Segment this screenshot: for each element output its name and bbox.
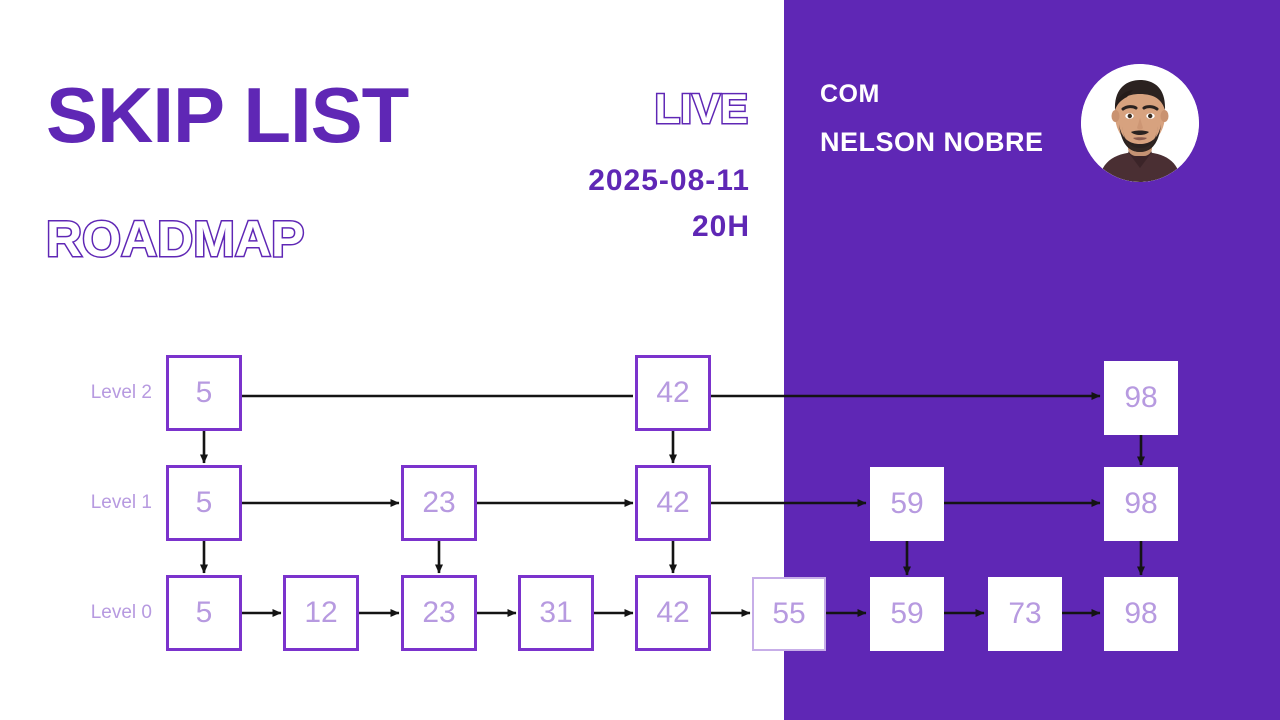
skip-list-node: 5 xyxy=(166,575,242,651)
node-value: 55 xyxy=(772,597,805,631)
skip-list-node: 98 xyxy=(1104,361,1178,435)
skip-list-node: 31 xyxy=(518,575,594,651)
node-value: 98 xyxy=(1124,597,1157,631)
node-value: 5 xyxy=(196,376,213,410)
skip-list-node: 42 xyxy=(635,355,711,431)
node-value: 5 xyxy=(196,486,213,520)
level-label: Level 0 xyxy=(60,602,152,624)
node-value: 42 xyxy=(656,486,689,520)
skip-list-diagram: Level 2Level 1Level 0 542985234259985122… xyxy=(0,0,1280,720)
slide-canvas: SKIP LIST ROADMAP LIVE 2025-08-11 20H CO… xyxy=(0,0,1280,720)
skip-list-node: 42 xyxy=(635,575,711,651)
skip-list-node: 23 xyxy=(401,575,477,651)
skip-list-node: 98 xyxy=(1104,577,1178,651)
skip-list-node: 73 xyxy=(988,577,1062,651)
skip-list-node: 5 xyxy=(166,355,242,431)
node-value: 31 xyxy=(539,596,572,630)
skip-list-node: 55 xyxy=(752,577,826,651)
node-value: 98 xyxy=(1124,487,1157,521)
node-value: 98 xyxy=(1124,381,1157,415)
skip-list-node: 98 xyxy=(1104,467,1178,541)
node-value: 59 xyxy=(890,597,923,631)
node-value: 23 xyxy=(422,596,455,630)
node-value: 59 xyxy=(890,487,923,521)
node-value: 42 xyxy=(656,596,689,630)
skip-list-node: 59 xyxy=(870,467,944,541)
skip-list-node: 5 xyxy=(166,465,242,541)
node-value: 42 xyxy=(656,376,689,410)
skip-list-node: 59 xyxy=(870,577,944,651)
node-value: 73 xyxy=(1008,597,1041,631)
node-value: 5 xyxy=(196,596,213,630)
skip-list-node: 23 xyxy=(401,465,477,541)
node-value: 12 xyxy=(304,596,337,630)
skip-list-node: 42 xyxy=(635,465,711,541)
level-label: Level 2 xyxy=(60,382,152,404)
level-label: Level 1 xyxy=(60,492,152,514)
skip-list-node: 12 xyxy=(283,575,359,651)
node-value: 23 xyxy=(422,486,455,520)
